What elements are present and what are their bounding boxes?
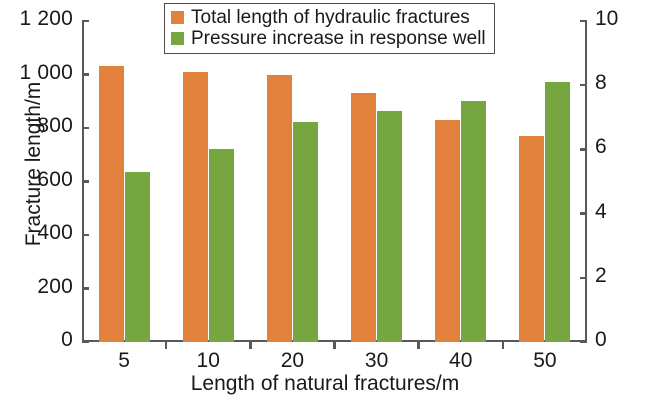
left-tick-label: 0 xyxy=(61,328,73,352)
right-tick-label: 0 xyxy=(595,328,607,352)
legend-item-total-length[interactable]: Total length of hydraulic fractures xyxy=(171,7,486,28)
x-axis-title: Length of natural fractures/m xyxy=(0,372,650,396)
legend-label-pressure-increase: Pressure increase in response well xyxy=(191,29,486,48)
bar-pressure-increase[interactable] xyxy=(545,82,570,342)
x-tick-mark xyxy=(165,342,168,349)
x-tick-label: 10 xyxy=(166,349,250,373)
bar-pressure-increase[interactable] xyxy=(209,149,234,342)
x-tick-label: 5 xyxy=(82,349,166,373)
x-tick-mark xyxy=(249,342,252,349)
bar-group xyxy=(99,21,150,342)
legend-swatch-green xyxy=(171,32,184,45)
bar-group xyxy=(519,21,570,342)
bar-group xyxy=(183,21,234,342)
bar-pressure-increase[interactable] xyxy=(293,122,318,342)
x-tick-label: 50 xyxy=(503,349,587,373)
bar-group xyxy=(351,21,402,342)
right-tick-label: 10 xyxy=(595,7,618,31)
x-tick-mark xyxy=(333,342,336,349)
bar-total-length[interactable] xyxy=(183,72,208,342)
bar-pressure-increase[interactable] xyxy=(461,101,486,342)
x-tick-mark xyxy=(502,342,505,349)
x-tick-mark xyxy=(417,342,420,349)
x-tick-label: 30 xyxy=(335,349,419,373)
bar-total-length[interactable] xyxy=(435,120,460,342)
right-tick-label: 2 xyxy=(595,264,607,288)
x-tick-label: 40 xyxy=(419,349,503,373)
right-tick-label: 6 xyxy=(595,135,607,159)
bar-total-length[interactable] xyxy=(351,93,376,342)
bar-group xyxy=(435,21,486,342)
bar-group xyxy=(267,21,318,342)
legend-swatch-orange xyxy=(171,11,184,24)
chart-figure: 02004006008001 0001 200 0246810 51020304… xyxy=(0,0,650,400)
bar-total-length[interactable] xyxy=(519,136,544,342)
legend-item-pressure-increase[interactable]: Pressure increase in response well xyxy=(171,28,486,49)
bar-total-length[interactable] xyxy=(99,66,124,342)
x-tick-label: 20 xyxy=(250,349,334,373)
bar-pressure-increase[interactable] xyxy=(377,111,402,342)
left-axis-title: Fracture length/m xyxy=(22,34,46,294)
bar-total-length[interactable] xyxy=(267,75,292,343)
right-tick-label: 8 xyxy=(595,71,607,95)
bar-pressure-increase[interactable] xyxy=(125,172,150,342)
chart-legend: Total length of hydraulic fractures Pres… xyxy=(164,3,495,54)
legend-label-total-length: Total length of hydraulic fractures xyxy=(191,8,470,27)
right-tick-label: 4 xyxy=(595,200,607,224)
bar-series-layer xyxy=(82,21,587,342)
left-tick-label: 1 200 xyxy=(19,7,73,31)
